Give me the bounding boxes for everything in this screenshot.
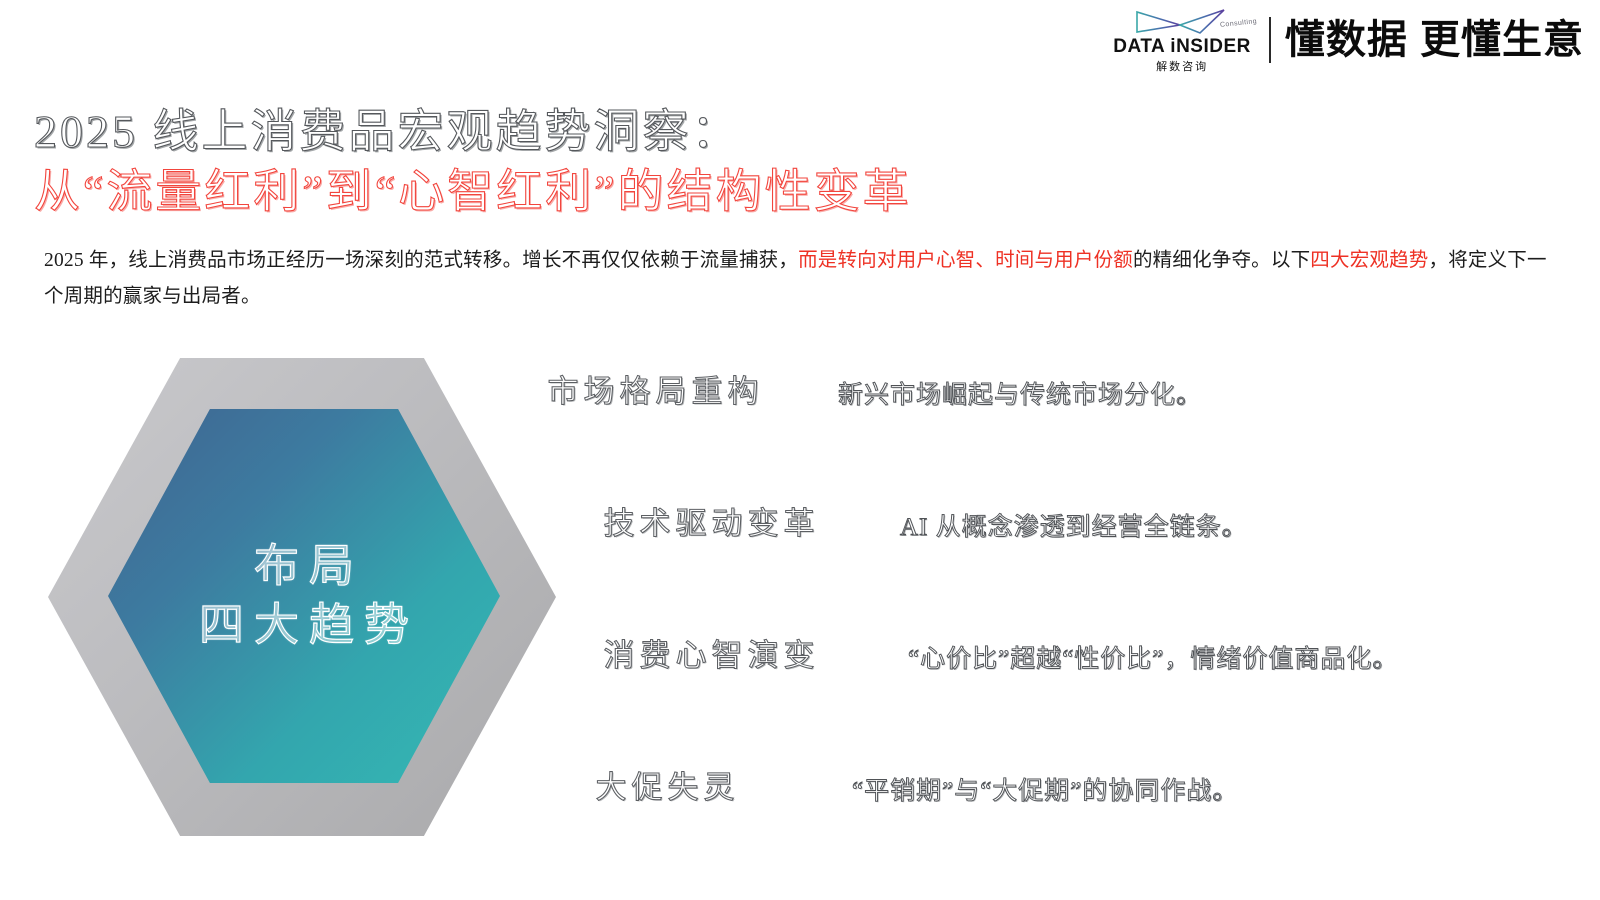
- hexagon-title-line-2: 四大趋势: [189, 596, 419, 655]
- trend-chip-3[interactable]: 消费心智演变: [540, 613, 878, 691]
- brand-slogan: 懂数据 更懂生意: [1285, 20, 1584, 60]
- intro-highlight-1: 而是转向对用户心智、时间与用户份额: [798, 250, 1133, 271]
- intro-highlight-2: 四大宏观趋势: [1310, 250, 1428, 271]
- logo: Consulting DATA iNSIDER 解数咨询: [1113, 6, 1255, 74]
- hexagon-title-line-1: 布局: [244, 537, 364, 596]
- trend-desc-3: “心价比”超越“性价比”，情绪价值商品化。: [908, 639, 1398, 675]
- trend-desc-1: 新兴市场崛起与传统市场分化。: [838, 375, 1202, 411]
- trend-desc-2: AI 从概念渗透到经营全链条。: [900, 507, 1248, 543]
- data-insider-bowtie-logo: [1134, 6, 1230, 36]
- trend-chip-4[interactable]: 大促失灵: [496, 745, 834, 823]
- trend-chip-2-label: 技术驱动变革: [599, 498, 820, 543]
- intro-text-part-1: 2025 年，线上消费品市场正经历一场深刻的范式转移。增长不再仅仅依赖于流量捕获…: [44, 250, 798, 271]
- trend-chip-1[interactable]: 市场格局重构: [484, 349, 822, 427]
- trend-chip-4-label: 大促失灵: [591, 762, 740, 807]
- brand-divider: [1269, 17, 1271, 63]
- page-title-line-1: 2025 线上消费品宏观趋势洞察：: [34, 108, 741, 156]
- trend-desc-4: “平销期”与“大促期”的协同作战。: [852, 771, 1238, 807]
- intro-text-part-2: 的精细化争夺。以下: [1133, 250, 1310, 271]
- trend-chip-2[interactable]: 技术驱动变革: [540, 481, 878, 559]
- logo-name-en: DATA iNSIDER: [1113, 37, 1251, 56]
- four-trends-diagram: 布局 四大趋势 市场格局重构 新兴市场崛起与传统市场分化。 技术驱动变革 AI …: [0, 322, 1600, 882]
- logo-name-cn: 解数咨询: [1156, 58, 1208, 74]
- page-header: Consulting DATA iNSIDER 解数咨询 懂数据 更懂生意: [0, 0, 1600, 80]
- brand-block: Consulting DATA iNSIDER 解数咨询 懂数据 更懂生意: [1113, 6, 1584, 74]
- trend-chip-1-label: 市场格局重构: [543, 366, 764, 411]
- trend-chip-3-label: 消费心智演变: [599, 630, 820, 675]
- page-title-line-2: 从“流量红利”到“心智红利”的结构性变革: [34, 168, 912, 216]
- intro-paragraph: 2025 年，线上消费品市场正经历一场深刻的范式转移。增长不再仅仅依赖于流量捕获…: [44, 243, 1554, 315]
